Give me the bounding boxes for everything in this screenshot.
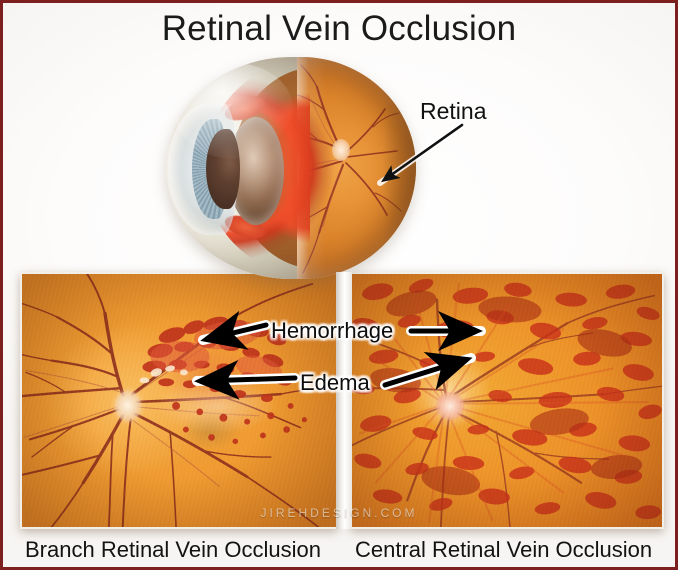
- page-title: Retinal Vein Occlusion: [3, 9, 675, 49]
- caption-branch-rvo: Branch Retinal Vein Occlusion: [25, 537, 321, 563]
- photo-divider-strip: [336, 272, 352, 529]
- edema-callout-label: Edema: [300, 370, 370, 396]
- pupil: [206, 129, 240, 209]
- crvo-diffuse-hemorrhages: [352, 274, 662, 527]
- crvo-optic-disc: [436, 392, 464, 420]
- retina-callout-arrow: [358, 121, 468, 201]
- poster-canvas: Retinal Vein Occlusion: [3, 3, 675, 567]
- poster-frame: Retinal Vein Occlusion: [0, 0, 678, 570]
- retina-callout-label: Retina: [420, 98, 486, 125]
- brvo-optic-disc: [115, 391, 141, 421]
- hemorrhage-callout-label: Hemorrhage: [271, 318, 393, 344]
- central-rvo-photo: [350, 272, 664, 529]
- brvo-hemorrhages: [22, 274, 336, 527]
- branch-rvo-photo: [20, 272, 338, 529]
- caption-central-rvo: Central Retinal Vein Occlusion: [355, 537, 652, 563]
- watermark: JIREHDESIGN.COM: [3, 506, 675, 520]
